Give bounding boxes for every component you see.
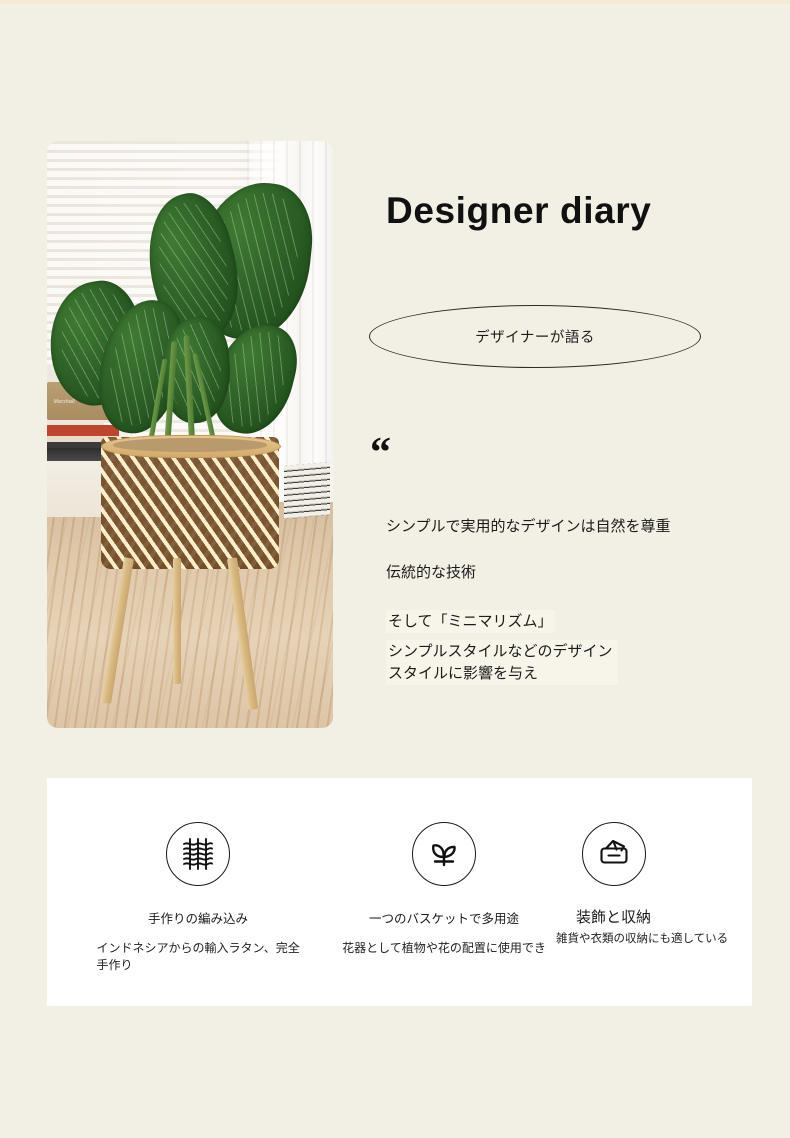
feature-item-woven[interactable]: 手作りの編み込み インドネシアからの輸入ラタン、完全手作り [73,778,323,1006]
photo-amp-label: Marshall [54,399,75,405]
photo-basket-inner-ring [113,438,267,452]
feature-item-storage[interactable]: 装飾と収納 雑貨や衣類の収納にも適している [556,778,752,1006]
feature-description: 花器として植物や花の配置に使用でき [322,940,567,957]
photo-stand-leg-center [173,558,182,684]
feature-description: 雑貨や衣類の収納にも適している [556,931,731,947]
quote-line-3-text: そして「ミニマリズム」 [386,610,555,634]
subtitle-label: デザイナーが語る [475,326,595,347]
quote-open-mark: “ [370,432,391,474]
feature-title: 装飾と収納 [576,906,651,927]
quote-line-2: 伝統的な技術 [386,562,790,584]
quote-line-1: シンプルで実用的なデザインは自然を尊重 [386,516,790,538]
feature-title: 手作りの編み込み [148,908,248,927]
quote-line-4-text: シンプルスタイルなどのデザインスタイルに影響を与え [386,640,618,685]
feature-description: インドネシアからの輸入ラタン、完全手作り [85,940,312,975]
quote-line-4: シンプルスタイルなどのデザインスタイルに影響を与え [386,640,618,685]
top-accent-strip [0,0,790,4]
feature-title: 一つのバスケットで多用途 [369,908,519,927]
quote-text-block: シンプルで実用的なデザインは自然を尊重 伝統的な技術 そして「ミニマリズム」 シ… [386,516,790,685]
product-detail-page: Marshall Designer diary デザイナーが語る “ シンプルで… [0,0,790,1138]
quote-line-3: そして「ミニマリズム」 [386,610,790,634]
woven-weave-icon [166,822,230,886]
hero-product-photo[interactable]: Marshall [47,141,333,728]
feature-item-multipurpose[interactable]: 一つのバスケットで多用途 花器として植物や花の配置に使用でき [319,778,569,1006]
sprout-plant-icon [412,822,476,886]
storage-box-icon [582,822,646,886]
feature-highlights-card: 手作りの編み込み インドネシアからの輸入ラタン、完全手作り 一つのバスケットで多… [47,778,752,1006]
subtitle-oval-badge: デザイナーが語る [369,305,701,368]
photo-right-books [284,462,330,519]
page-title: Designer diary [386,190,651,232]
